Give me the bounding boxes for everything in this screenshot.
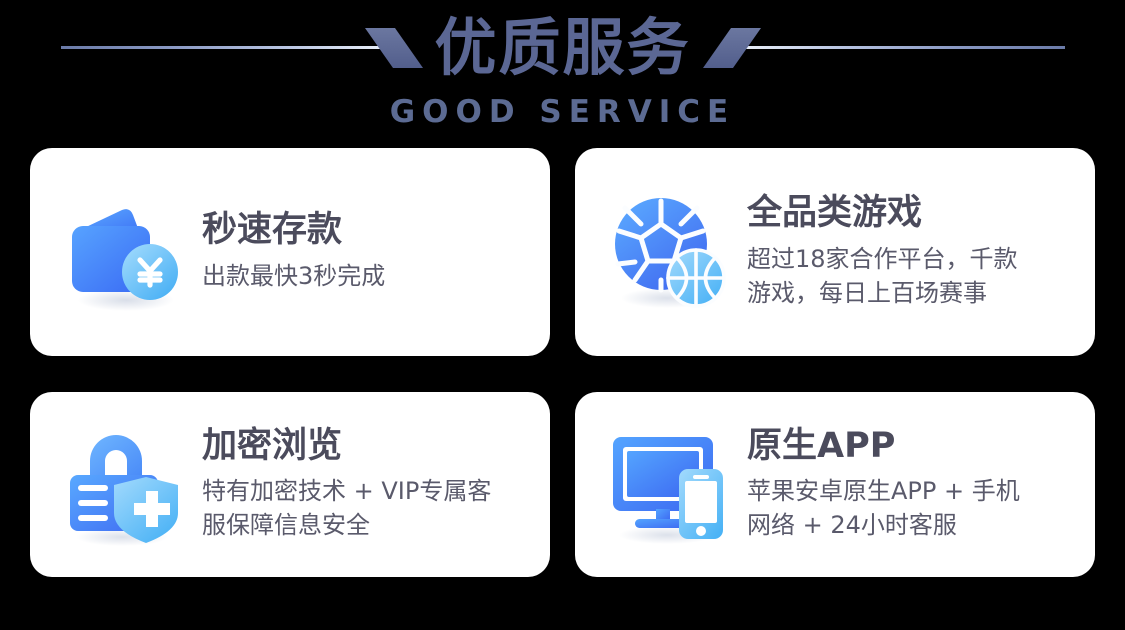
decoration-line-right-icon xyxy=(745,46,1065,49)
desc-line: 特有加密技术 + VIP专属客 xyxy=(202,474,536,508)
service-card-title: 全品类游戏 xyxy=(747,194,1081,233)
header-title-row: 优质服务 xyxy=(0,0,1125,95)
service-card[interactable]: 全品类游戏 超过18家合作平台，千款 游戏，每日上百场赛事 xyxy=(575,148,1095,356)
page-title-wrap: 优质服务 xyxy=(409,17,717,79)
desc-line: 超过18家合作平台，千款 xyxy=(747,242,1081,276)
service-card-title: 加密浏览 xyxy=(202,427,536,466)
service-card[interactable]: 秒速存款 出款最快3秒完成 xyxy=(30,148,550,356)
service-card-text: 秒速存款 出款最快3秒完成 xyxy=(202,211,536,292)
service-card-title: 秒速存款 xyxy=(202,211,536,250)
page-title: 优质服务 xyxy=(435,17,691,79)
service-card[interactable]: 原生APP 苹果安卓原生APP + 手机 网络 + 24小时客服 xyxy=(575,392,1095,577)
desc-line: 游戏，每日上百场赛事 xyxy=(747,276,1081,310)
page-header: 优质服务 GOOD SERVICE xyxy=(0,0,1125,145)
service-card-grid: 秒速存款 出款最快3秒完成 xyxy=(30,148,1095,577)
header-decoration-right xyxy=(717,28,1125,68)
service-card-desc: 苹果安卓原生APP + 手机 网络 + 24小时客服 xyxy=(747,474,1081,542)
service-card-text: 全品类游戏 超过18家合作平台，千款 游戏，每日上百场赛事 xyxy=(747,194,1081,309)
lock-shield-icon xyxy=(60,421,188,549)
desc-line: 苹果安卓原生APP + 手机 xyxy=(747,474,1081,508)
desc-line: 网络 + 24小时客服 xyxy=(747,508,1081,542)
decoration-line-left-icon xyxy=(61,46,381,49)
page-subtitle: GOOD SERVICE xyxy=(0,97,1125,128)
service-card[interactable]: 加密浏览 特有加密技术 + VIP专属客 服保障信息安全 xyxy=(30,392,550,577)
monitor-phone-icon xyxy=(605,421,733,549)
wallet-yen-icon xyxy=(60,188,188,316)
service-card-title: 原生APP xyxy=(747,427,1081,466)
service-card-desc: 出款最快3秒完成 xyxy=(202,259,536,293)
header-decoration-left xyxy=(0,28,409,68)
service-card-text: 原生APP 苹果安卓原生APP + 手机 网络 + 24小时客服 xyxy=(747,427,1081,542)
desc-line: 服保障信息安全 xyxy=(202,508,536,542)
soccer-basketball-icon xyxy=(605,188,733,316)
service-card-desc: 超过18家合作平台，千款 游戏，每日上百场赛事 xyxy=(747,242,1081,310)
desc-line: 出款最快3秒完成 xyxy=(202,259,536,293)
service-card-desc: 特有加密技术 + VIP专属客 服保障信息安全 xyxy=(202,474,536,542)
service-card-text: 加密浏览 特有加密技术 + VIP专属客 服保障信息安全 xyxy=(202,427,536,542)
